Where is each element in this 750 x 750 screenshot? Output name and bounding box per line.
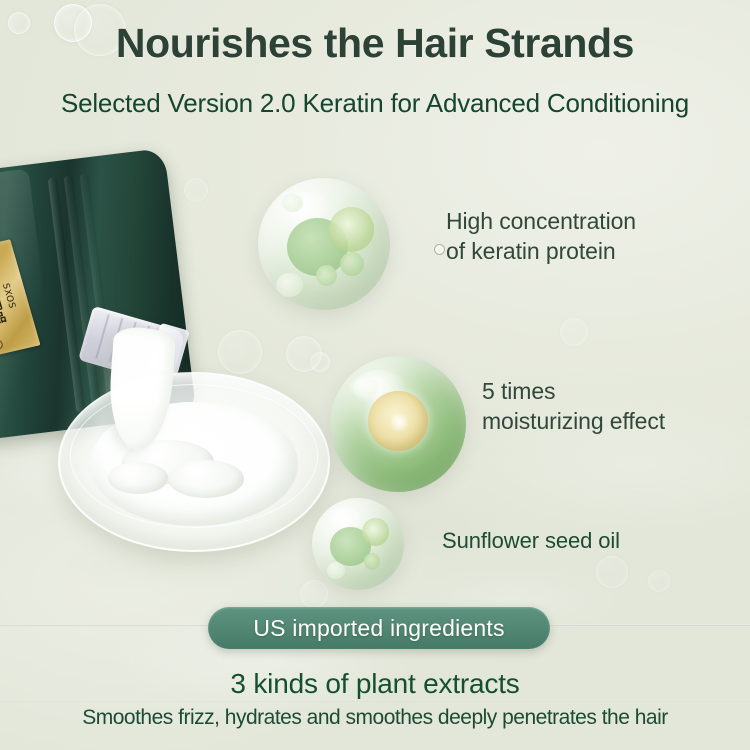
water-ring-icon: [300, 580, 328, 608]
pouch-label-seal-icon: [0, 339, 4, 351]
bubble-inner-blob: [276, 273, 302, 297]
cream-swirl: [168, 460, 244, 498]
feature-line-2: of keratin protein: [446, 236, 636, 266]
feature-line-1: 5 times: [482, 376, 665, 406]
bubble-inner-blob: [282, 194, 303, 212]
bubble-inner-blob: [349, 378, 379, 397]
spout-rib: [95, 314, 110, 359]
cream-swirl: [108, 462, 168, 494]
feature-line-1: Sunflower seed oil: [442, 526, 620, 555]
status-badge-text: US imported ingredients: [253, 615, 504, 642]
bubble-inner-blob: [327, 562, 345, 579]
ingredient-bubble-moisture: [330, 356, 466, 492]
feature-line-2: moisturizing effect: [482, 406, 665, 436]
bubble-inner-blob: [340, 252, 364, 276]
status-badge: US imported ingredients: [208, 607, 550, 649]
ingredient-bubble-keratin: [258, 178, 390, 310]
product-marketing-poster: Nourishes the Hair Strands Selected Vers…: [0, 0, 750, 750]
bubble-inner-core-shine: [390, 413, 409, 432]
bottom-tagline: 3 kinds of plant extracts: [0, 668, 750, 700]
feature-label-moisture: 5 times moisturizing effect: [482, 376, 665, 437]
surface-seam-line-secondary: [0, 700, 750, 703]
feature-line-1: High concentration: [446, 206, 636, 236]
bubble-inner-blob: [362, 518, 390, 546]
water-ring-icon: [560, 318, 588, 346]
water-ring-icon: [310, 352, 330, 372]
page-title: Nourishes the Hair Strands: [0, 20, 750, 67]
water-ring-icon: [286, 336, 322, 372]
page-subtitle: Selected Version 2.0 Keratin for Advance…: [0, 88, 750, 119]
water-ring-icon: [648, 570, 670, 592]
bubble-inner-blob: [364, 553, 381, 570]
water-ring-icon: [596, 556, 628, 588]
ingredient-bubble-sunflower: [312, 498, 404, 590]
bubble-inner-blob: [329, 207, 374, 252]
feature-label-keratin: High concentration of keratin protein: [446, 206, 636, 267]
petri-dish: [58, 372, 330, 552]
bottom-footnote: Smoothes frizz, hydrates and smoothes de…: [0, 706, 750, 730]
bubble-inner-blob: [316, 265, 337, 286]
feature-bullet-icon: [434, 244, 445, 255]
feature-label-sunflower: Sunflower seed oil: [442, 526, 620, 555]
